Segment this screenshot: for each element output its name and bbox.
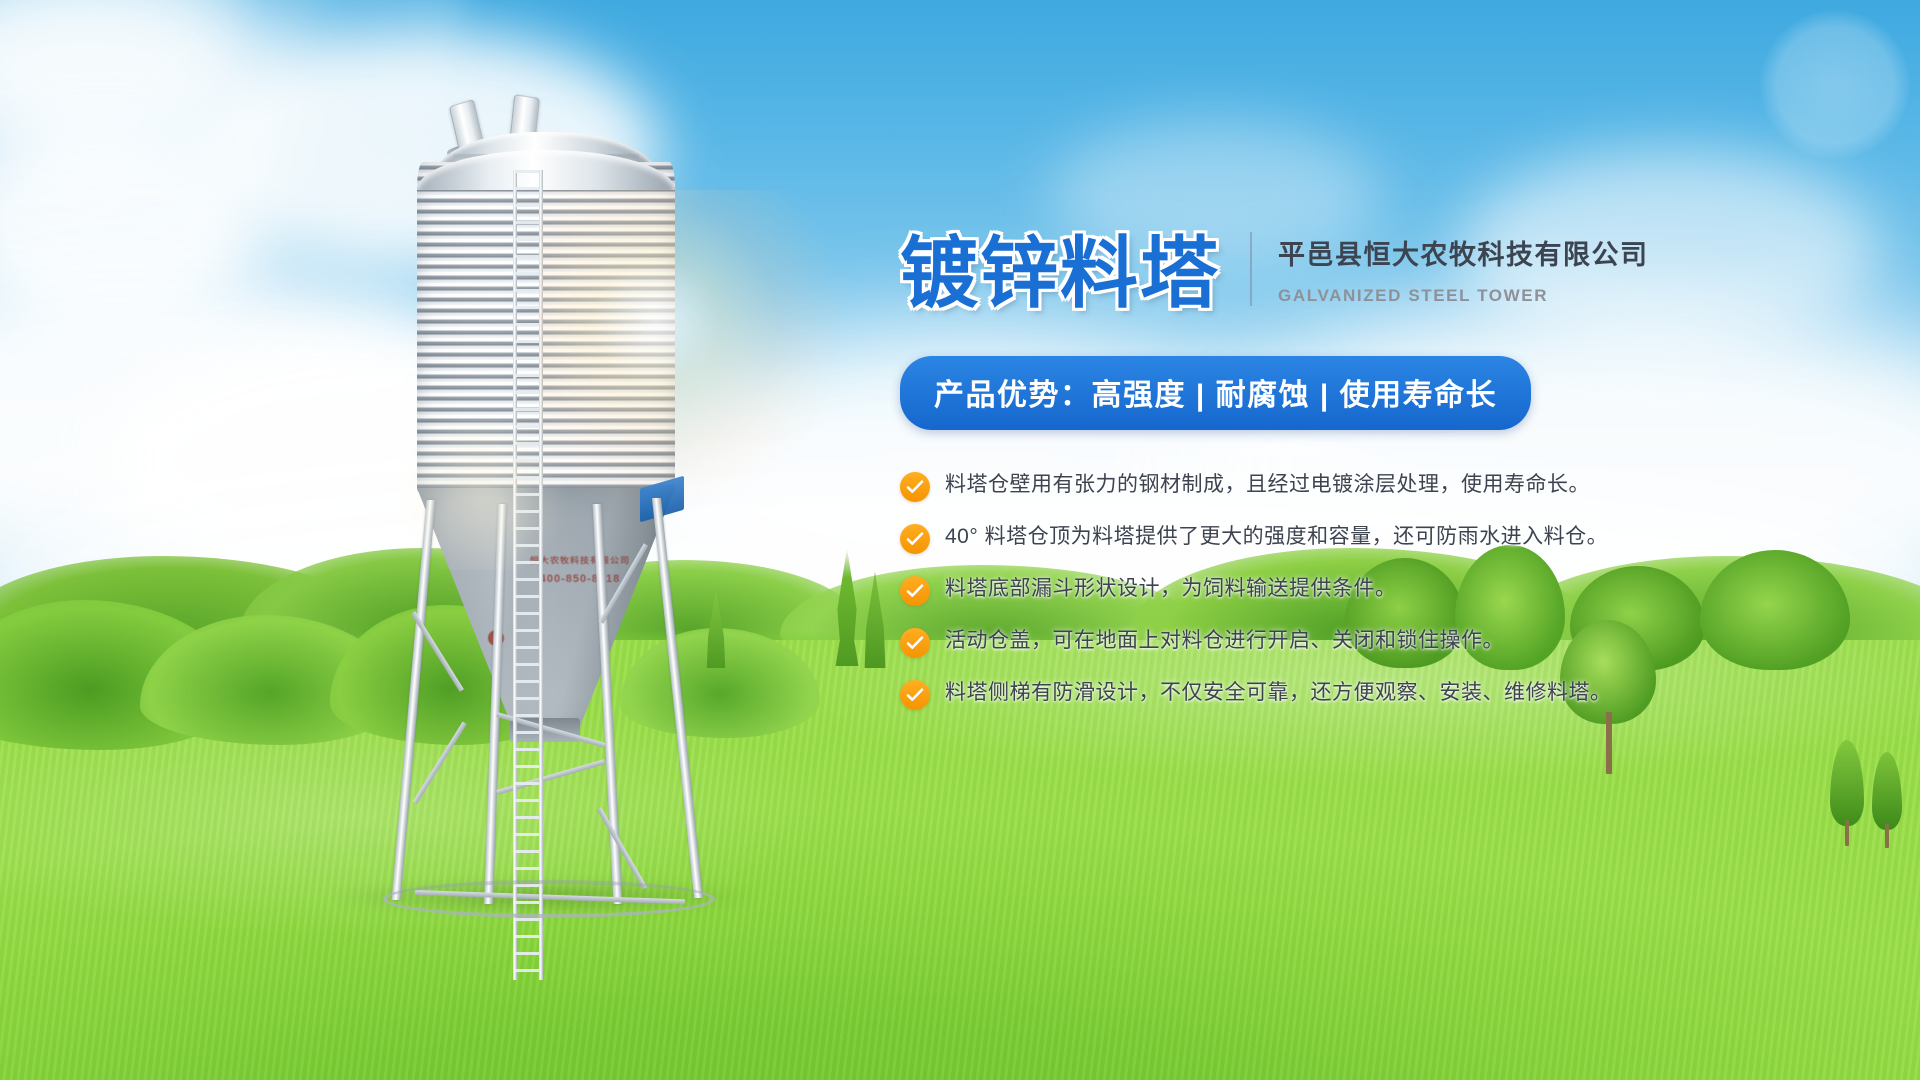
list-item-label: 活动仓盖，可在地面上对料仓进行开启、关闭和锁住操作。 xyxy=(945,628,1504,654)
check-circle-icon xyxy=(900,680,930,710)
title-side-block: 平邑县恒大农牧科技有限公司 GALVANIZED STEEL TOWER xyxy=(1278,233,1649,312)
tree-crown xyxy=(1830,740,1864,826)
tree-trunk xyxy=(1885,824,1889,848)
lawn-tree xyxy=(1872,752,1902,830)
lawn-tree xyxy=(1830,740,1864,826)
feature-list: 料塔仓壁用有张力的钢材制成，且经过电镀涂层处理，使用寿命长。 40° 料塔仓顶为… xyxy=(900,472,1900,710)
subtitle-english: GALVANIZED STEEL TOWER xyxy=(1278,286,1649,306)
tree-trunk xyxy=(1845,820,1849,846)
silo-side-ladder xyxy=(513,170,543,980)
sun-flare-circle xyxy=(1760,10,1910,160)
list-item: 料塔侧梯有防滑设计，不仅安全可靠，还方便观察、安装、维修料塔。 xyxy=(900,680,1900,710)
silo-support-leg xyxy=(392,500,436,900)
galvanized-steel-silo: 恒大农牧科技有限公司 400-850-8818 xyxy=(395,100,695,890)
banner-copy-block: 镀锌料塔 平邑县恒大农牧科技有限公司 GALVANIZED STEEL TOWE… xyxy=(900,232,1900,732)
check-circle-icon xyxy=(900,628,930,658)
check-circle-icon xyxy=(900,524,930,554)
silo-base-ring xyxy=(383,880,715,918)
company-name: 平邑县恒大农牧科技有限公司 xyxy=(1278,233,1649,272)
silo-logo-phone: 400-850-8818 xyxy=(540,573,621,585)
tree-crown xyxy=(1872,752,1902,830)
list-item-label: 料塔底部漏斗形状设计，为饲料输送提供条件。 xyxy=(945,576,1397,602)
list-item: 料塔底部漏斗形状设计，为饲料输送提供条件。 xyxy=(900,576,1900,606)
list-item: 40° 料塔仓顶为料塔提供了更大的强度和容量，还可防雨水进入料仓。 xyxy=(900,524,1900,554)
silo-cross-brace xyxy=(413,721,467,803)
check-circle-icon xyxy=(900,472,930,502)
check-circle-icon xyxy=(900,576,930,606)
silo-corrugated-body xyxy=(417,162,675,492)
list-item-label: 料塔仓壁用有张力的钢材制成，且经过电镀涂层处理，使用寿命长。 xyxy=(945,472,1590,498)
title-divider xyxy=(1250,232,1252,306)
title-row: 镀锌料塔 平邑县恒大农牧科技有限公司 GALVANIZED STEEL TOWE… xyxy=(900,232,1900,312)
list-item: 料塔仓壁用有张力的钢材制成，且经过电镀涂层处理，使用寿命长。 xyxy=(900,472,1900,502)
list-item: 活动仓盖，可在地面上对料仓进行开启、关闭和锁住操作。 xyxy=(900,628,1900,658)
product-banner: 恒大农牧科技有限公司 400-850-8818 镀锌料塔 平邑县恒 xyxy=(0,0,1920,1080)
list-item-label: 40° 料塔仓顶为料塔提供了更大的强度和容量，还可防雨水进入料仓。 xyxy=(945,524,1608,550)
ladder-rungs xyxy=(515,170,541,980)
advantage-pill: 产品优势：高强度 | 耐腐蚀 | 使用寿命长 xyxy=(900,356,1531,430)
page-title: 镀锌料塔 xyxy=(900,234,1220,312)
list-item-label: 料塔侧梯有防滑设计，不仅安全可靠，还方便观察、安装、维修料塔。 xyxy=(945,680,1612,706)
silo-cross-brace xyxy=(597,807,647,889)
